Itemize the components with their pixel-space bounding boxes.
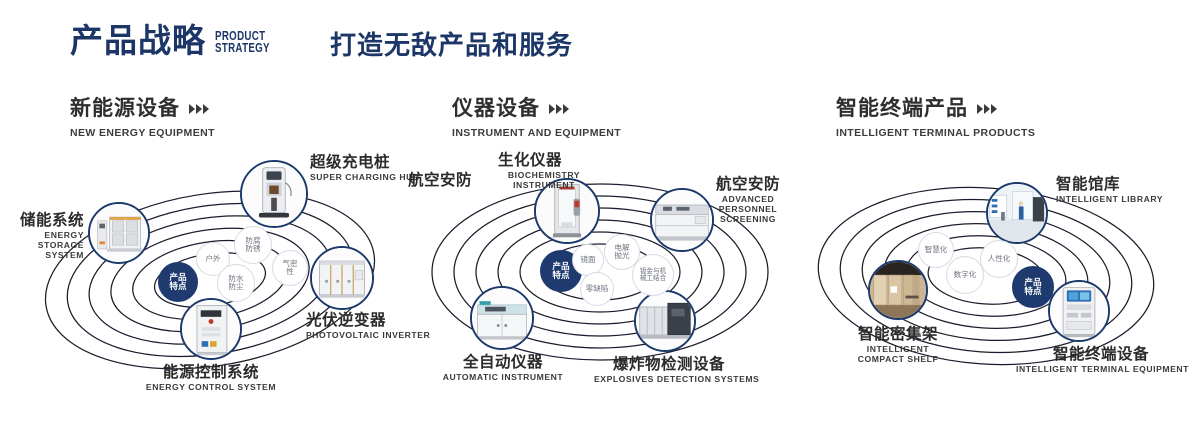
- feature-bubble-airtightness: 气密性: [272, 250, 308, 286]
- section-title-en: INTELLIGENT TERMINAL PRODUCTS: [836, 127, 1035, 139]
- page-tagline: 打造无敌产品和服务: [330, 32, 573, 58]
- auto-analyzer-icon: [472, 288, 532, 348]
- pv-inverter-icon: [312, 248, 372, 308]
- label-cn: 全自动仪器: [428, 354, 578, 371]
- control-cabinet-icon: [182, 300, 240, 358]
- label-en: INTELLIGENT COMPACT SHELF: [853, 345, 943, 364]
- label-cn: 能源控制系统: [126, 364, 296, 381]
- label-en: INTELLIGENT TERMINAL EQUIPMENT: [1016, 365, 1186, 375]
- section-title-cn: 智能终端产品: [836, 98, 968, 119]
- section-title-en: INSTRUMENT AND EQUIPMENT: [452, 127, 621, 139]
- label-intelligent-compact-shelf: 智能密集架 INTELLIGENT COMPACT SHELF: [830, 326, 966, 365]
- center-bubble-label: 产品特点: [167, 273, 189, 292]
- feature-label: 智慧化: [925, 246, 948, 254]
- page-title-block: 产品战略 PRODUCT STRATEGY: [70, 24, 285, 57]
- chevron-right-icon: [556, 104, 562, 114]
- chevron-right-icon: [549, 104, 555, 114]
- label-en: ADVANCED PERSONNEL SCREENING: [700, 195, 796, 224]
- label-cn: 智能馆库: [1056, 176, 1163, 193]
- node-intelligent-library[interactable]: [986, 182, 1048, 244]
- center-bubble-product-features: 产品特点: [158, 262, 198, 302]
- center-bubble-label: 产品特点: [1022, 278, 1044, 297]
- node-energy-control-system[interactable]: [180, 298, 242, 360]
- section-header-intelligent-terminal: 智能终端产品 INTELLIGENT TERMINAL PRODUCTS: [836, 98, 1035, 139]
- chevron-right-icon: [984, 104, 990, 114]
- label-intelligent-terminal-equipment: 智能终端设备 INTELLIGENT TERMINAL EQUIPMENT: [1016, 346, 1186, 375]
- feature-label: 零缺陷: [586, 285, 609, 293]
- label-en: ENERGY CONTROL SYSTEM: [126, 383, 296, 393]
- chevron-right-icon: [563, 104, 569, 114]
- compact-shelf-icon: [870, 262, 926, 318]
- label-intelligent-library: 智能馆库 INTELLIGENT LIBRARY: [1056, 176, 1163, 205]
- node-photovoltaic-inverter[interactable]: [310, 246, 374, 310]
- feature-label: 防水防尘: [226, 275, 246, 291]
- label-biochemistry-instrument: 生化仪器 BIOCHEMISTRY INSTRUMENT: [460, 152, 600, 191]
- feature-label: 气密性: [279, 260, 301, 276]
- library-room-icon: [988, 184, 1046, 242]
- chevron-right-icon: [189, 104, 195, 114]
- node-explosives-detection-systems[interactable]: [634, 290, 696, 352]
- feature-label: 人性化: [988, 255, 1011, 263]
- chevron-right-icon: [991, 104, 997, 114]
- feature-label: 防腐防锈: [243, 237, 263, 253]
- section-title-en: NEW ENERGY EQUIPMENT: [70, 127, 215, 139]
- chevron-right-icon-group: [549, 104, 569, 114]
- self-service-kiosk-icon: [1050, 282, 1108, 340]
- node-intelligent-compact-shelf[interactable]: [868, 260, 928, 320]
- label-en: AUTOMATIC INSTRUMENT: [428, 373, 578, 383]
- label-energy-control-system: 能源控制系统 ENERGY CONTROL SYSTEM: [126, 364, 296, 393]
- section-title-cn: 新能源设备: [70, 98, 180, 119]
- feature-bubble-sheet-metal-machining: 钣金与机械工结合: [632, 254, 674, 296]
- page-title-en: PRODUCT STRATEGY: [215, 30, 270, 56]
- chevron-right-icon: [203, 104, 209, 114]
- feature-label: 数字化: [954, 271, 977, 279]
- label-en: BIOCHEMISTRY INSTRUMENT: [498, 171, 590, 190]
- label-cn: 智能密集架: [830, 326, 966, 343]
- feature-bubble-humanized: 人性化: [980, 240, 1018, 278]
- chevron-right-icon-group: [977, 104, 997, 114]
- feature-bubble-intelligent: 智慧化: [918, 232, 954, 268]
- feature-label: 电解抛光: [612, 244, 632, 260]
- label-en: ENERGY STORAGE SYSTEM: [6, 231, 84, 260]
- feature-label: 钣金与机械工结合: [637, 268, 669, 282]
- page-title-en-line1: PRODUCT: [215, 30, 270, 43]
- center-bubble-product-features: 产品特点: [1012, 266, 1054, 308]
- charging-pile-icon: [242, 162, 306, 226]
- explosive-detector-icon: [636, 292, 694, 350]
- cluster-intelligent-terminal-products: 智能馆库 INTELLIGENT LIBRARY 智能密集架 INTELLIGE…: [790, 150, 1190, 410]
- label-en: EXPLOSIVES DETECTION SYSTEMS: [594, 375, 744, 385]
- section-title-cn: 仪器设备: [452, 98, 540, 119]
- label-automatic-instrument: 全自动仪器 AUTOMATIC INSTRUMENT: [428, 354, 578, 383]
- label-cn: 智能终端设备: [1016, 346, 1186, 363]
- feature-label: 户外: [205, 255, 220, 263]
- label-explosives-detection-systems: 爆炸物检测设备 EXPLOSIVES DETECTION SYSTEMS: [594, 356, 744, 385]
- label-energy-storage-system: 储能系统 ENERGY STORAGE SYSTEM: [6, 212, 84, 260]
- chevron-right-icon: [977, 104, 983, 114]
- page-title-en-line2: STRATEGY: [215, 42, 270, 55]
- center-bubble-label: 产品特点: [550, 262, 572, 281]
- label-cn: 生化仪器: [460, 152, 600, 169]
- feature-bubble-waterproof: 防水防尘: [217, 264, 255, 302]
- cluster-instrument-and-equipment: 航空安防 生化仪器 BIOCHEMISTRY INSTRUMENT: [400, 150, 800, 410]
- section-header-new-energy: 新能源设备 NEW ENERGY EQUIPMENT: [70, 98, 215, 139]
- section-header-instrument: 仪器设备 INSTRUMENT AND EQUIPMENT: [452, 98, 621, 139]
- cluster-new-energy-equipment: 储能系统 ENERGY STORAGE SYSTEM 超级充电桩 SUPER C…: [10, 150, 410, 410]
- chevron-right-icon: [196, 104, 202, 114]
- node-automatic-instrument[interactable]: [470, 286, 534, 350]
- page-title: 产品战略: [70, 24, 206, 57]
- feature-label: 镜面: [580, 256, 595, 264]
- battery-cabinet-icon: [90, 204, 148, 262]
- feature-bubble-zero-defect: 零缺陷: [580, 272, 614, 306]
- label-cn: 储能系统: [6, 212, 84, 229]
- label-en: INTELLIGENT LIBRARY: [1056, 195, 1163, 205]
- label-cn: 爆炸物检测设备: [594, 356, 744, 373]
- chevron-right-icon-group: [189, 104, 209, 114]
- node-intelligent-terminal-equipment[interactable]: [1048, 280, 1110, 342]
- feature-bubble-anticorrosion: 防腐防锈: [234, 226, 272, 264]
- feature-bubble-digital: 数字化: [946, 256, 984, 294]
- node-super-charging-hub[interactable]: [240, 160, 308, 228]
- node-energy-storage-system[interactable]: [88, 202, 150, 264]
